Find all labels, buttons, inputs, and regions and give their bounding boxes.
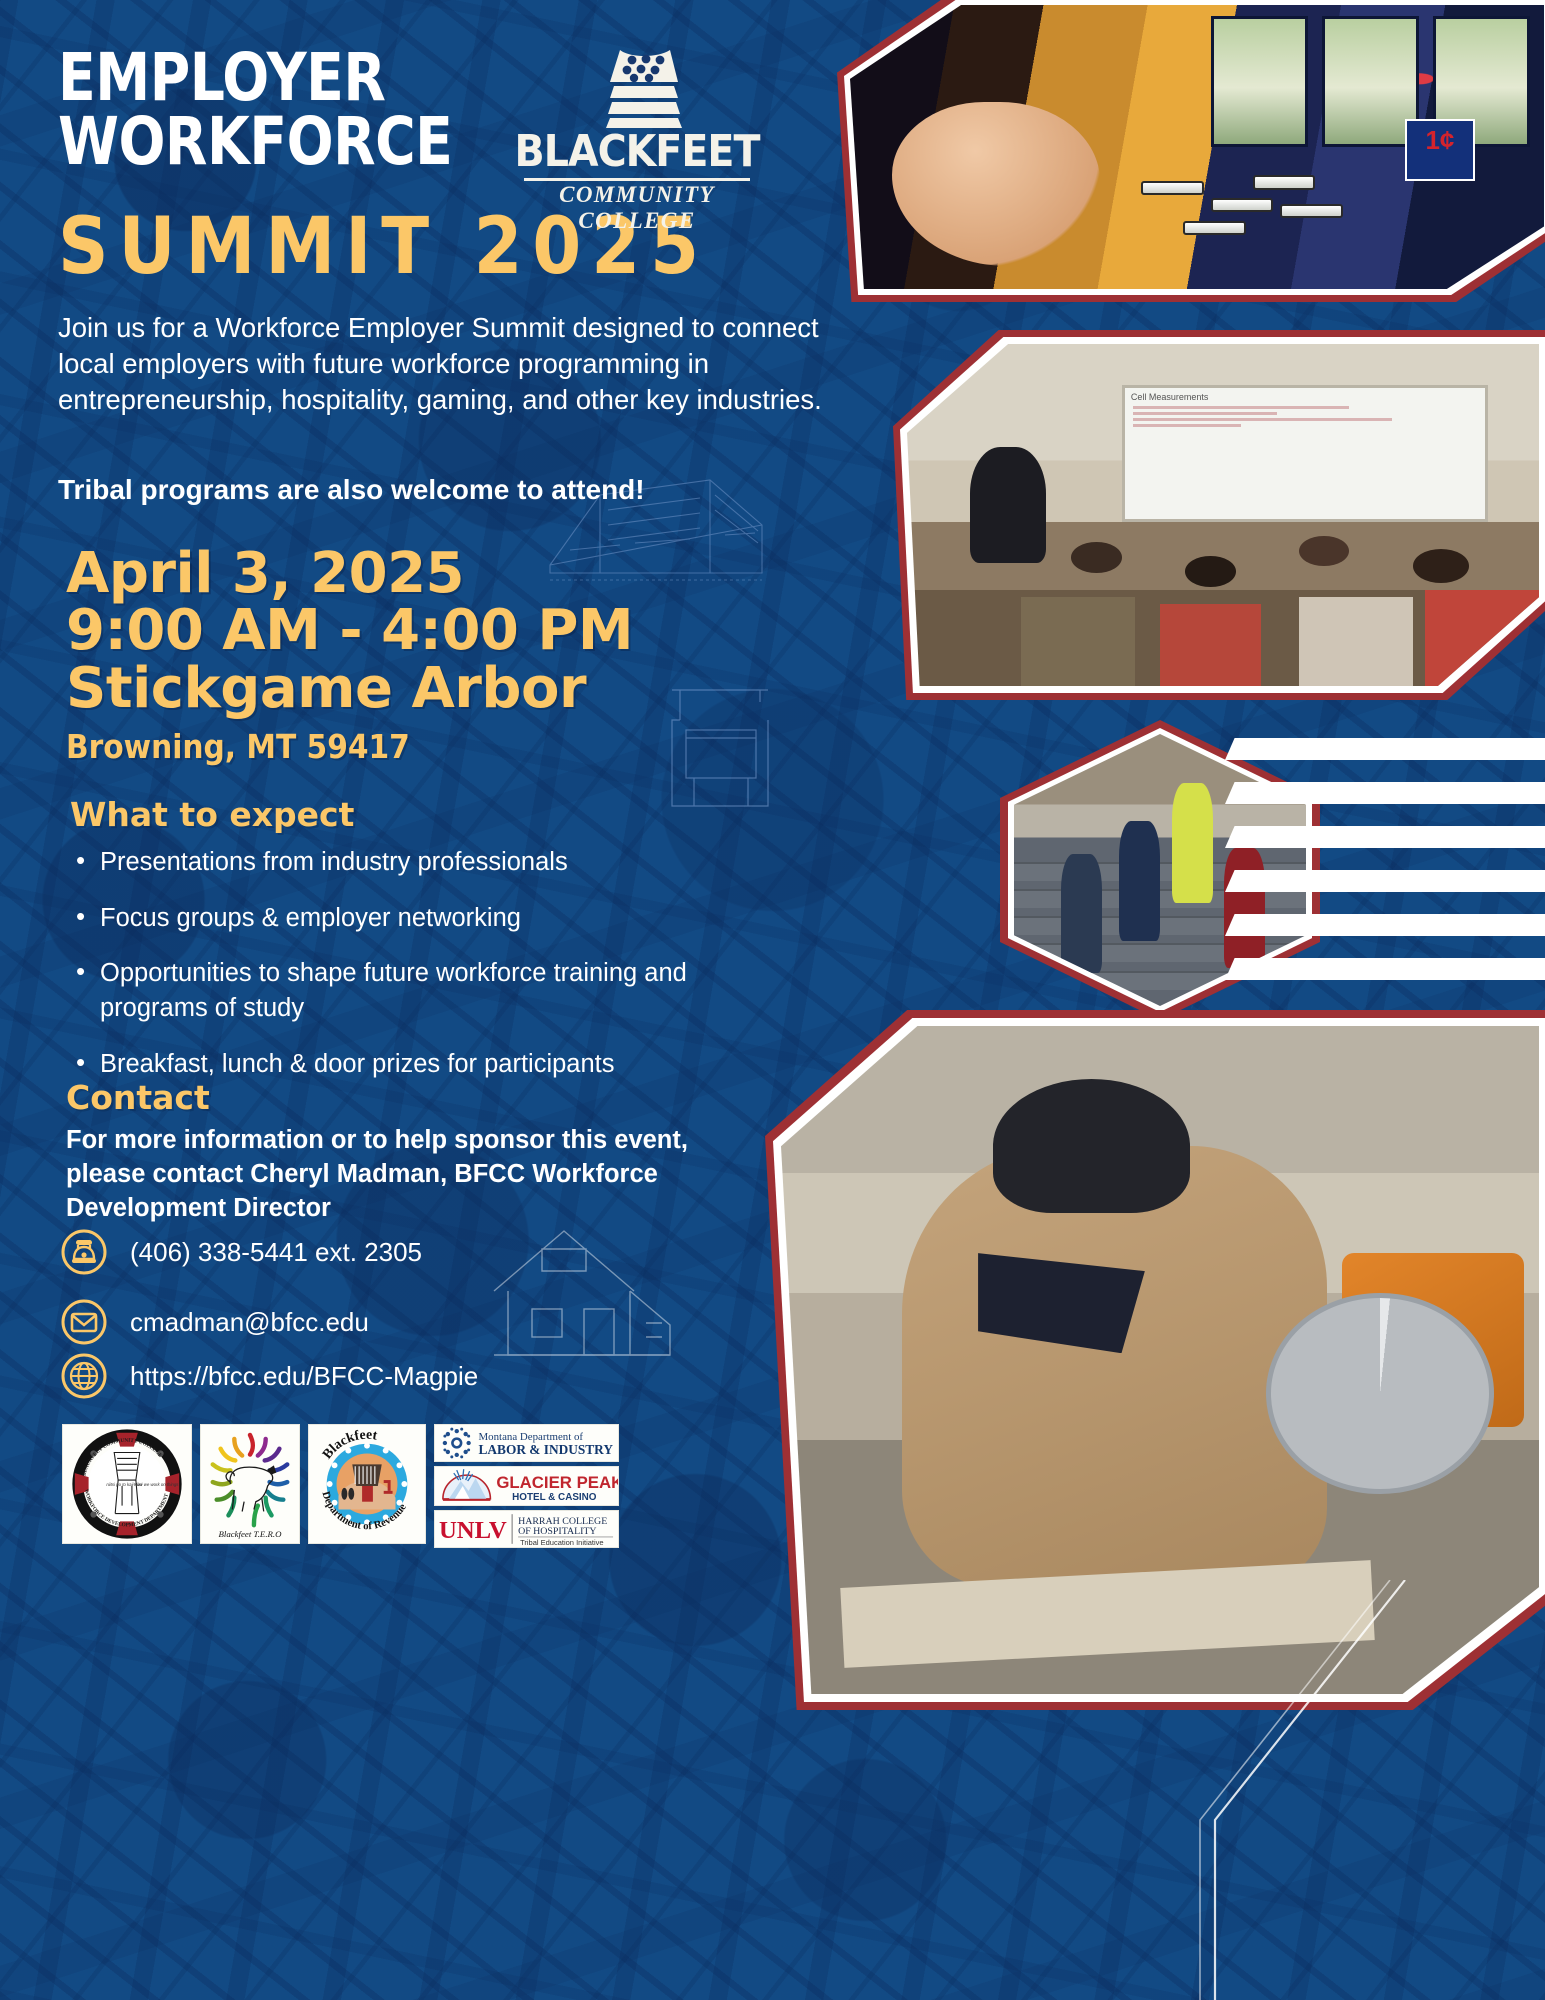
contact-phone-text: (406) 338-5441 ext. 2305 bbox=[130, 1237, 422, 1268]
slot-machine-photo: 1¢ bbox=[837, 0, 1545, 302]
contact-email-text: cmadman@bfcc.edu bbox=[130, 1307, 369, 1338]
unlv-line-3: OF HOSPITALITY bbox=[518, 1526, 596, 1537]
tribal-programs-note: Tribal programs are also welcome to atte… bbox=[58, 474, 858, 506]
title-line-workforce: WORKFORCE bbox=[58, 110, 495, 174]
page-title: EMPLOYER WORKFORCE bbox=[58, 46, 528, 174]
sponsor-unlv-harrah: UNLV HARRAH COLLEGE OF HOSPITALITY Triba… bbox=[434, 1510, 619, 1548]
event-date: April 3, 2025 bbox=[66, 545, 464, 603]
photo-collage: 1¢ Cell Measurements bbox=[785, 0, 1545, 2000]
list-item: Opportunities to shape future workforce … bbox=[70, 956, 770, 1025]
list-item: Breakfast, lunch & door prizes for parti… bbox=[70, 1047, 770, 1082]
unlv-line-4: Tribal Education Initiative bbox=[520, 1538, 604, 1547]
glacier-line-1: GLACIER PEAKS bbox=[496, 1473, 618, 1492]
event-city-state-zip: Browning, MT 59417 bbox=[66, 727, 410, 766]
contact-email-row[interactable]: cmadman@bfcc.edu bbox=[60, 1298, 369, 1346]
envelope-icon bbox=[60, 1298, 108, 1346]
blackfeet-community-college-logo: BLACKFEET COMMUNITY COLLEGE bbox=[508, 48, 766, 200]
sponsor-bfcc-workforce-development: BLACKFEET COMMUNITY COLLEGE WORKFORCE DE… bbox=[62, 1424, 192, 1544]
bfcc-seal-icon: BLACKFEET COMMUNITY COLLEGE WORKFORCE DE… bbox=[63, 1424, 191, 1544]
sponsor-montana-labor-industry: Montana Department of LABOR & INDUSTRY bbox=[434, 1424, 619, 1462]
buffalo-sunburst-icon: Blackfeet T.E.R.O bbox=[201, 1424, 299, 1544]
globe-icon bbox=[60, 1352, 108, 1400]
logo-wordmark: BLACKFEET bbox=[508, 130, 766, 174]
line-accent-decor bbox=[1155, 1580, 1415, 2000]
mountain-icon bbox=[443, 1469, 490, 1500]
blackfeet-revenue-seal-icon: Blackfeet Department of Revenue bbox=[309, 1424, 425, 1544]
list-item: Presentations from industry professional… bbox=[70, 845, 770, 880]
contact-phone-row[interactable]: (406) 338-5441 ext. 2305 bbox=[60, 1228, 422, 1276]
contact-heading: Contact bbox=[66, 1078, 210, 1117]
telephone-icon bbox=[60, 1228, 108, 1276]
classroom-presentation-photo: Cell Measurements bbox=[893, 330, 1545, 700]
what-to-expect-heading: What to expect bbox=[70, 795, 354, 834]
seal-inner-right: How we work on things bbox=[134, 1482, 179, 1487]
sponsor-blackfeet-department-of-revenue: Blackfeet Department of Revenue bbox=[308, 1424, 426, 1544]
drum-teepee-icon bbox=[600, 48, 688, 130]
contact-website-row[interactable]: https://bfcc.edu/BFCC-Magpie bbox=[60, 1352, 478, 1400]
list-item: Focus groups & employer networking bbox=[70, 901, 770, 936]
projector-screen: Cell Measurements bbox=[1122, 385, 1489, 522]
event-venue: Stickgame Arbor bbox=[66, 660, 586, 718]
event-time: 9:00 AM - 4:00 PM bbox=[66, 602, 633, 660]
sponsor-blackfeet-tero: Blackfeet T.E.R.O bbox=[200, 1424, 300, 1544]
slide-title: Cell Measurements bbox=[1131, 392, 1480, 402]
intro-paragraph: Join us for a Workforce Employer Summit … bbox=[58, 310, 848, 418]
unlv-line-1: UNLV bbox=[439, 1517, 507, 1544]
chevron-stripe-decor bbox=[1225, 738, 1545, 990]
contact-description: For more information or to help sponsor … bbox=[66, 1124, 766, 1226]
slot-denomination-label: 1¢ bbox=[1405, 119, 1474, 181]
tero-label: Blackfeet T.E.R.O bbox=[219, 1529, 283, 1539]
what-to-expect-list: Presentations from industry professional… bbox=[70, 845, 770, 1102]
glacier-line-2: HOTEL & CASINO bbox=[512, 1492, 597, 1503]
mdli-line-2: LABOR & INDUSTRY bbox=[479, 1442, 614, 1457]
montana-rosette-icon bbox=[443, 1428, 471, 1459]
sponsor-stack: Montana Department of LABOR & INDUSTRY G… bbox=[434, 1424, 619, 1548]
title-line-employer: EMPLOYER bbox=[58, 46, 495, 110]
sponsor-logo-strip: BLACKFEET COMMUNITY COLLEGE WORKFORCE DE… bbox=[62, 1424, 619, 1548]
logo-divider bbox=[524, 178, 750, 181]
sponsor-glacier-peaks: GLACIER PEAKS HOTEL & CASINO bbox=[434, 1466, 619, 1506]
logo-subtitle: COMMUNITY COLLEGE bbox=[508, 182, 766, 234]
contact-website-text: https://bfcc.edu/BFCC-Magpie bbox=[130, 1361, 478, 1392]
